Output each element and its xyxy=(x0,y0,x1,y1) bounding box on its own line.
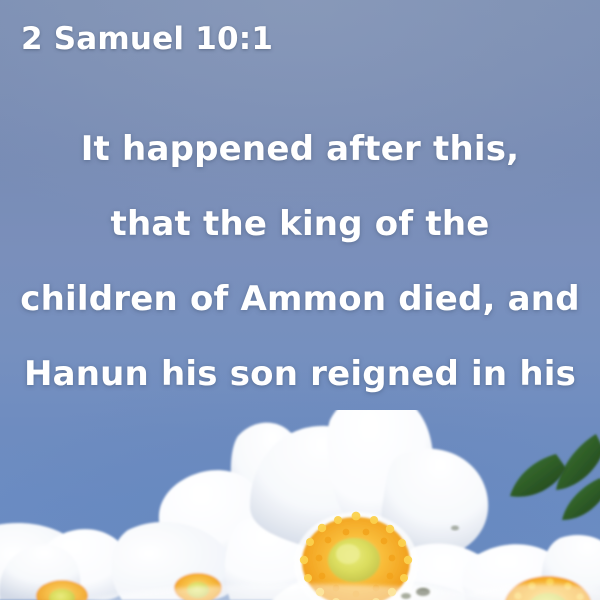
verse-line: children of Ammon died, and xyxy=(18,262,582,337)
verse-image: 2 Samuel 10:1 It happened after this, th… xyxy=(0,0,600,600)
verse-line: Hanun his son reigned in his xyxy=(18,337,582,412)
verse-line: It happened after this, xyxy=(18,112,582,187)
verse-line: that the king of the xyxy=(18,187,582,262)
bible-reference: 2 Samuel 10:1 xyxy=(21,19,273,59)
leaf-cluster-right xyxy=(510,434,600,520)
flower-photo-band xyxy=(0,410,600,600)
